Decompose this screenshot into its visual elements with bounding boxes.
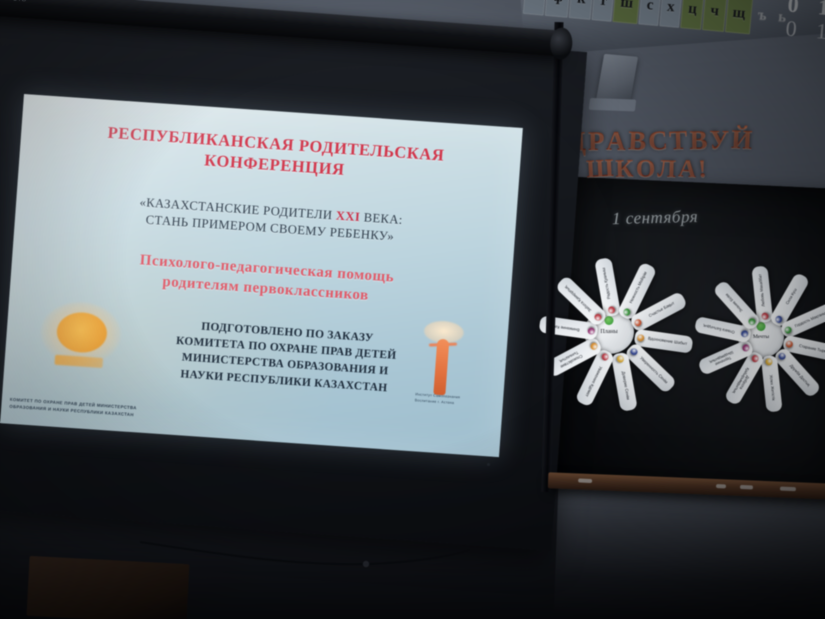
banner-letter: Т <box>669 125 689 157</box>
alphabet-card-щ: щ <box>724 0 753 34</box>
slide-subtitle-century: XXI <box>335 209 360 225</box>
furniture-silhouette <box>27 556 190 619</box>
petal-label: Радость Қуаныш <box>602 267 613 307</box>
banner-letter: Л <box>657 155 678 184</box>
banner-letter: Р <box>588 126 606 157</box>
sun-base <box>54 355 103 368</box>
classroom-photo: ифктшсхцчщъь 0 1 0 1 ЗДРАВСТВУЙ ШКОЛА! 1… <box>0 0 825 619</box>
petal-label: Гордость Мақтаныш <box>787 310 825 332</box>
petal-label: Старание Тырысу <box>791 342 825 355</box>
flower-left-center-pin <box>605 316 614 325</box>
banner-letter: К <box>615 155 635 183</box>
alphabet-card-х: х <box>659 0 683 28</box>
petal-pin <box>616 355 624 363</box>
petal-label: Успех Жетістік <box>768 367 776 401</box>
banner-letter: С <box>647 125 670 157</box>
slide-footer: КОМИТЕТ ПО ОХРАНЕ ПРАВ ДЕТЕЙ МИНИСТЕРСТВ… <box>9 397 219 424</box>
figure-illustration: Институт Самопознания Воспитание г. Аста… <box>410 319 475 415</box>
floor-light <box>554 487 825 619</box>
petal-label: Забота Қамқорлық <box>564 284 598 317</box>
petal-pin <box>747 317 757 327</box>
banner-letter: Ш <box>586 155 616 184</box>
petal-label: Уверенность Сенім <box>633 350 668 384</box>
alphabet-card-ъ: ъ <box>751 0 774 36</box>
flower-right-center-label: Мечты <box>753 334 769 340</box>
figure-body <box>433 339 449 396</box>
chalk-piece <box>740 485 753 490</box>
alphabet-card-ч: ч <box>702 0 727 32</box>
wall-speck <box>487 463 490 466</box>
petal-pin <box>637 334 645 342</box>
flower-left-center-label: Планы <box>600 329 617 335</box>
numbers-row-bottom: 0 1 <box>785 15 825 46</box>
petal-label: Дружба Достық <box>783 358 810 388</box>
banner-letter: ! <box>697 156 708 184</box>
slide-subtitle-part-2: ВЕКА: <box>360 210 404 227</box>
presentation-slide: РЕСПУБЛИКАНСКАЯ РОДИТЕЛЬСКАЯ КОНФЕРЕНЦИЯ… <box>0 94 523 457</box>
petal-label: Сила Күш <box>781 288 798 313</box>
alphabet-card-ф: ф <box>545 0 572 18</box>
petal-label: Нежность Мейірім <box>626 271 649 311</box>
slide-subtitle: «КАЗАХСТАНСКИЕ РОДИТЕЛИ XXI ВЕКА: СТАНЬ … <box>55 188 487 252</box>
chalkboard-date-text: 1 сентября <box>612 207 699 229</box>
sun-logo-icon <box>32 295 129 379</box>
petal-pin <box>761 312 769 320</box>
paper-flower-right: Мечты Любовь МахаббатСила КүшГордость Ма… <box>694 258 825 420</box>
petal-label: Отвага Батылдық <box>703 323 743 336</box>
banner-letter: Й <box>731 124 754 156</box>
slide-credit-block: ПОДГОТОВЛЕНО ПО ЗАКАЗУ КОМИТЕТА ПО ОХРАН… <box>134 314 438 399</box>
petal-label: Счастье Бақыт <box>641 301 675 322</box>
paper-flower-left: Планы Радость ҚуанышНежность МейірімСчас… <box>538 248 688 420</box>
number-cards: 0 1 0 1 <box>783 0 825 60</box>
welcome-banner: ЗДРАВСТВУЙ ШКОЛА! <box>551 119 825 203</box>
petal-pin <box>766 358 774 366</box>
petal-label: Знание Білім <box>725 292 749 318</box>
petal-pin <box>608 305 616 313</box>
banner-letter: В <box>627 125 647 157</box>
alphabet-card-и: и <box>523 0 548 16</box>
banner-letter: А <box>606 126 627 157</box>
petal-label: Доверие Сенім <box>619 363 630 400</box>
slide-title: РЕСПУБЛИКАНСКАЯ РОДИТЕЛЬСКАЯ КОНФЕРЕНЦИЯ <box>69 119 481 189</box>
petal-label: Вдохновение Шабыт <box>640 335 688 346</box>
figure-caption: Институт Самопознания Воспитание г. Аста… <box>415 393 461 407</box>
chalk-piece <box>780 487 796 492</box>
alphabet-card-т: т <box>591 0 615 22</box>
alphabet-card-к: к <box>569 0 594 20</box>
banner-letter: У <box>709 124 730 155</box>
power-cable <box>140 540 470 574</box>
petal-label: Любовь Махаббат <box>758 274 767 315</box>
alphabet-card-с: с <box>639 0 662 26</box>
alphabet-card-ц: ц <box>680 0 705 30</box>
petal-pin <box>587 327 595 335</box>
petal-label: Уважение Құрмет <box>584 358 606 397</box>
petal-pin <box>774 314 784 324</box>
chalk-piece <box>578 478 592 483</box>
banner-letter: А <box>677 155 698 184</box>
chalk-piece <box>716 484 726 488</box>
roller-brand-mark: DIGIS <box>3 0 28 3</box>
banner-letter: В <box>689 125 708 156</box>
alphabet-card-ш: ш <box>612 0 641 24</box>
petal-pin <box>740 330 748 338</box>
banner-line-2: ШКОЛА! <box>586 155 707 183</box>
banner-letter: О <box>636 156 657 184</box>
